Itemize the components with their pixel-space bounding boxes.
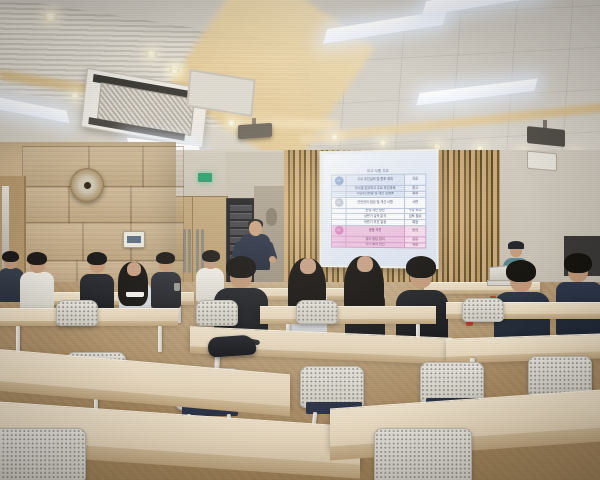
- shoulder-bag: [207, 334, 256, 357]
- row-text-cell: 차기 회의 안건: [346, 242, 404, 248]
- control-panel-display: [127, 236, 141, 243]
- group-badge: 2조: [334, 198, 343, 207]
- stacking-chair[interactable]: [374, 428, 470, 480]
- downlight: [146, 50, 157, 58]
- rack-unit: [230, 213, 252, 219]
- table-row: 1조 주요 추진실적 및 향후 계획 자료: [331, 174, 425, 186]
- downlight: [44, 12, 57, 21]
- door-handle[interactable]: [196, 229, 199, 273]
- stacking-chair[interactable]: [296, 300, 336, 322]
- left-wood-wall: [0, 142, 176, 292]
- laptop-base: [487, 280, 512, 286]
- group-badge: 3조: [334, 226, 343, 235]
- downlight: [70, 92, 80, 99]
- stacking-chair[interactable]: [0, 428, 84, 480]
- attendee-head: [357, 256, 373, 272]
- presenter-right-hand: [269, 256, 276, 263]
- row-group-cell: 1조: [331, 175, 346, 186]
- slide-table-body: 1조 주요 추진실적 및 향후 계획 자료 부서별 업무보고 주요 추진과제 참…: [331, 174, 425, 249]
- wall-control-panel[interactable]: [123, 231, 145, 248]
- stacking-chair[interactable]: [462, 298, 502, 320]
- exit-sign-icon: [198, 173, 212, 182]
- presenter-head: [249, 221, 262, 236]
- drink-cup: [174, 283, 180, 291]
- downlight: [330, 134, 339, 140]
- projection-screen: 보고 사항 주요 1조 주요 추진실적 및 향후 계획 자료 부서별 업무보: [319, 149, 438, 269]
- downlight: [170, 68, 179, 74]
- row-text-cell: 종합 의견: [346, 225, 404, 237]
- attendee-hair: [202, 250, 220, 262]
- attendee-hair: [226, 256, 256, 278]
- row-value-cell: 토의: [405, 226, 426, 237]
- table-row: 차기 회의 안건 예정: [331, 242, 425, 249]
- projected-slide: 보고 사항 주요 1조 주요 추진실적 및 향후 계획 자료 부서별 업무보: [327, 167, 430, 254]
- wall-panel-tile: [130, 186, 184, 224]
- downlight: [379, 140, 387, 146]
- stacking-chair[interactable]: [196, 300, 236, 324]
- row-text-cell: 안전관리 점검 및 개선 사항: [346, 197, 404, 208]
- row-group-cell: [331, 242, 346, 248]
- ceiling-projector: [238, 123, 272, 139]
- wall-speaker: [527, 151, 557, 172]
- attendee-hair: [87, 252, 107, 265]
- chair-back: [56, 300, 98, 326]
- rack-unit: [230, 205, 252, 211]
- wall-panel-tile: [142, 146, 184, 188]
- projection-screen-surface: 보고 사항 주요 1조 주요 추진실적 및 향후 계획 자료 부서별 업무보: [321, 151, 436, 267]
- pillar-emblem: [266, 208, 277, 226]
- attendee-torso: [20, 272, 54, 310]
- wall-panel-tile: [22, 186, 70, 224]
- table-leg: [16, 326, 20, 352]
- slide-title: 보고 사항 주요: [327, 167, 430, 173]
- stacking-chair[interactable]: [420, 362, 482, 402]
- chair-back: [296, 300, 338, 324]
- stacking-chair[interactable]: [528, 356, 590, 394]
- chair-back: [196, 300, 238, 326]
- clock-hub: [84, 182, 91, 189]
- attendee-hair: [506, 260, 536, 282]
- stacking-chair[interactable]: [56, 300, 96, 324]
- table-leg: [158, 326, 162, 352]
- stacking-chair[interactable]: [300, 366, 362, 406]
- attendee-head: [300, 258, 316, 274]
- row-group-cell: 3조: [331, 225, 346, 236]
- slide-table: 1조 주요 추진실적 및 향후 계획 자료 부서별 업무보고 주요 추진과제 참…: [331, 174, 426, 250]
- table-row: 3조 종합 의견 토의: [331, 225, 425, 237]
- group-badge: 1조: [334, 176, 343, 185]
- row-value-cell: 예정: [405, 243, 426, 249]
- paper-stack: [126, 292, 144, 297]
- chair-back: [0, 428, 86, 480]
- row-text-cell: 주요 추진실적 및 향후 계획: [346, 174, 404, 186]
- training-table: [260, 306, 436, 320]
- chair-back: [374, 428, 472, 480]
- row-group-cell: 2조: [331, 197, 346, 208]
- wall-clock: [70, 168, 104, 202]
- attendee-hair: [27, 252, 47, 265]
- attendee-cap: [508, 241, 524, 249]
- downlight: [227, 120, 236, 126]
- door-handle[interactable]: [188, 229, 191, 273]
- attendee-hair: [156, 252, 175, 264]
- attendee-hair: [564, 253, 592, 273]
- table-row: 2조 안전관리 점검 및 개선 사항 서면: [331, 197, 425, 208]
- seminar-room-photo: 보고 사항 주요 1조 주요 추진실적 및 향후 계획 자료 부서별 업무보: [0, 0, 600, 480]
- attendee-hair: [406, 256, 436, 278]
- attendee-hair: [2, 251, 19, 262]
- row-value-cell: 자료: [405, 174, 426, 185]
- attendee-head: [127, 262, 141, 276]
- chair-back: [462, 298, 504, 322]
- row-value-cell: 서면: [405, 197, 426, 208]
